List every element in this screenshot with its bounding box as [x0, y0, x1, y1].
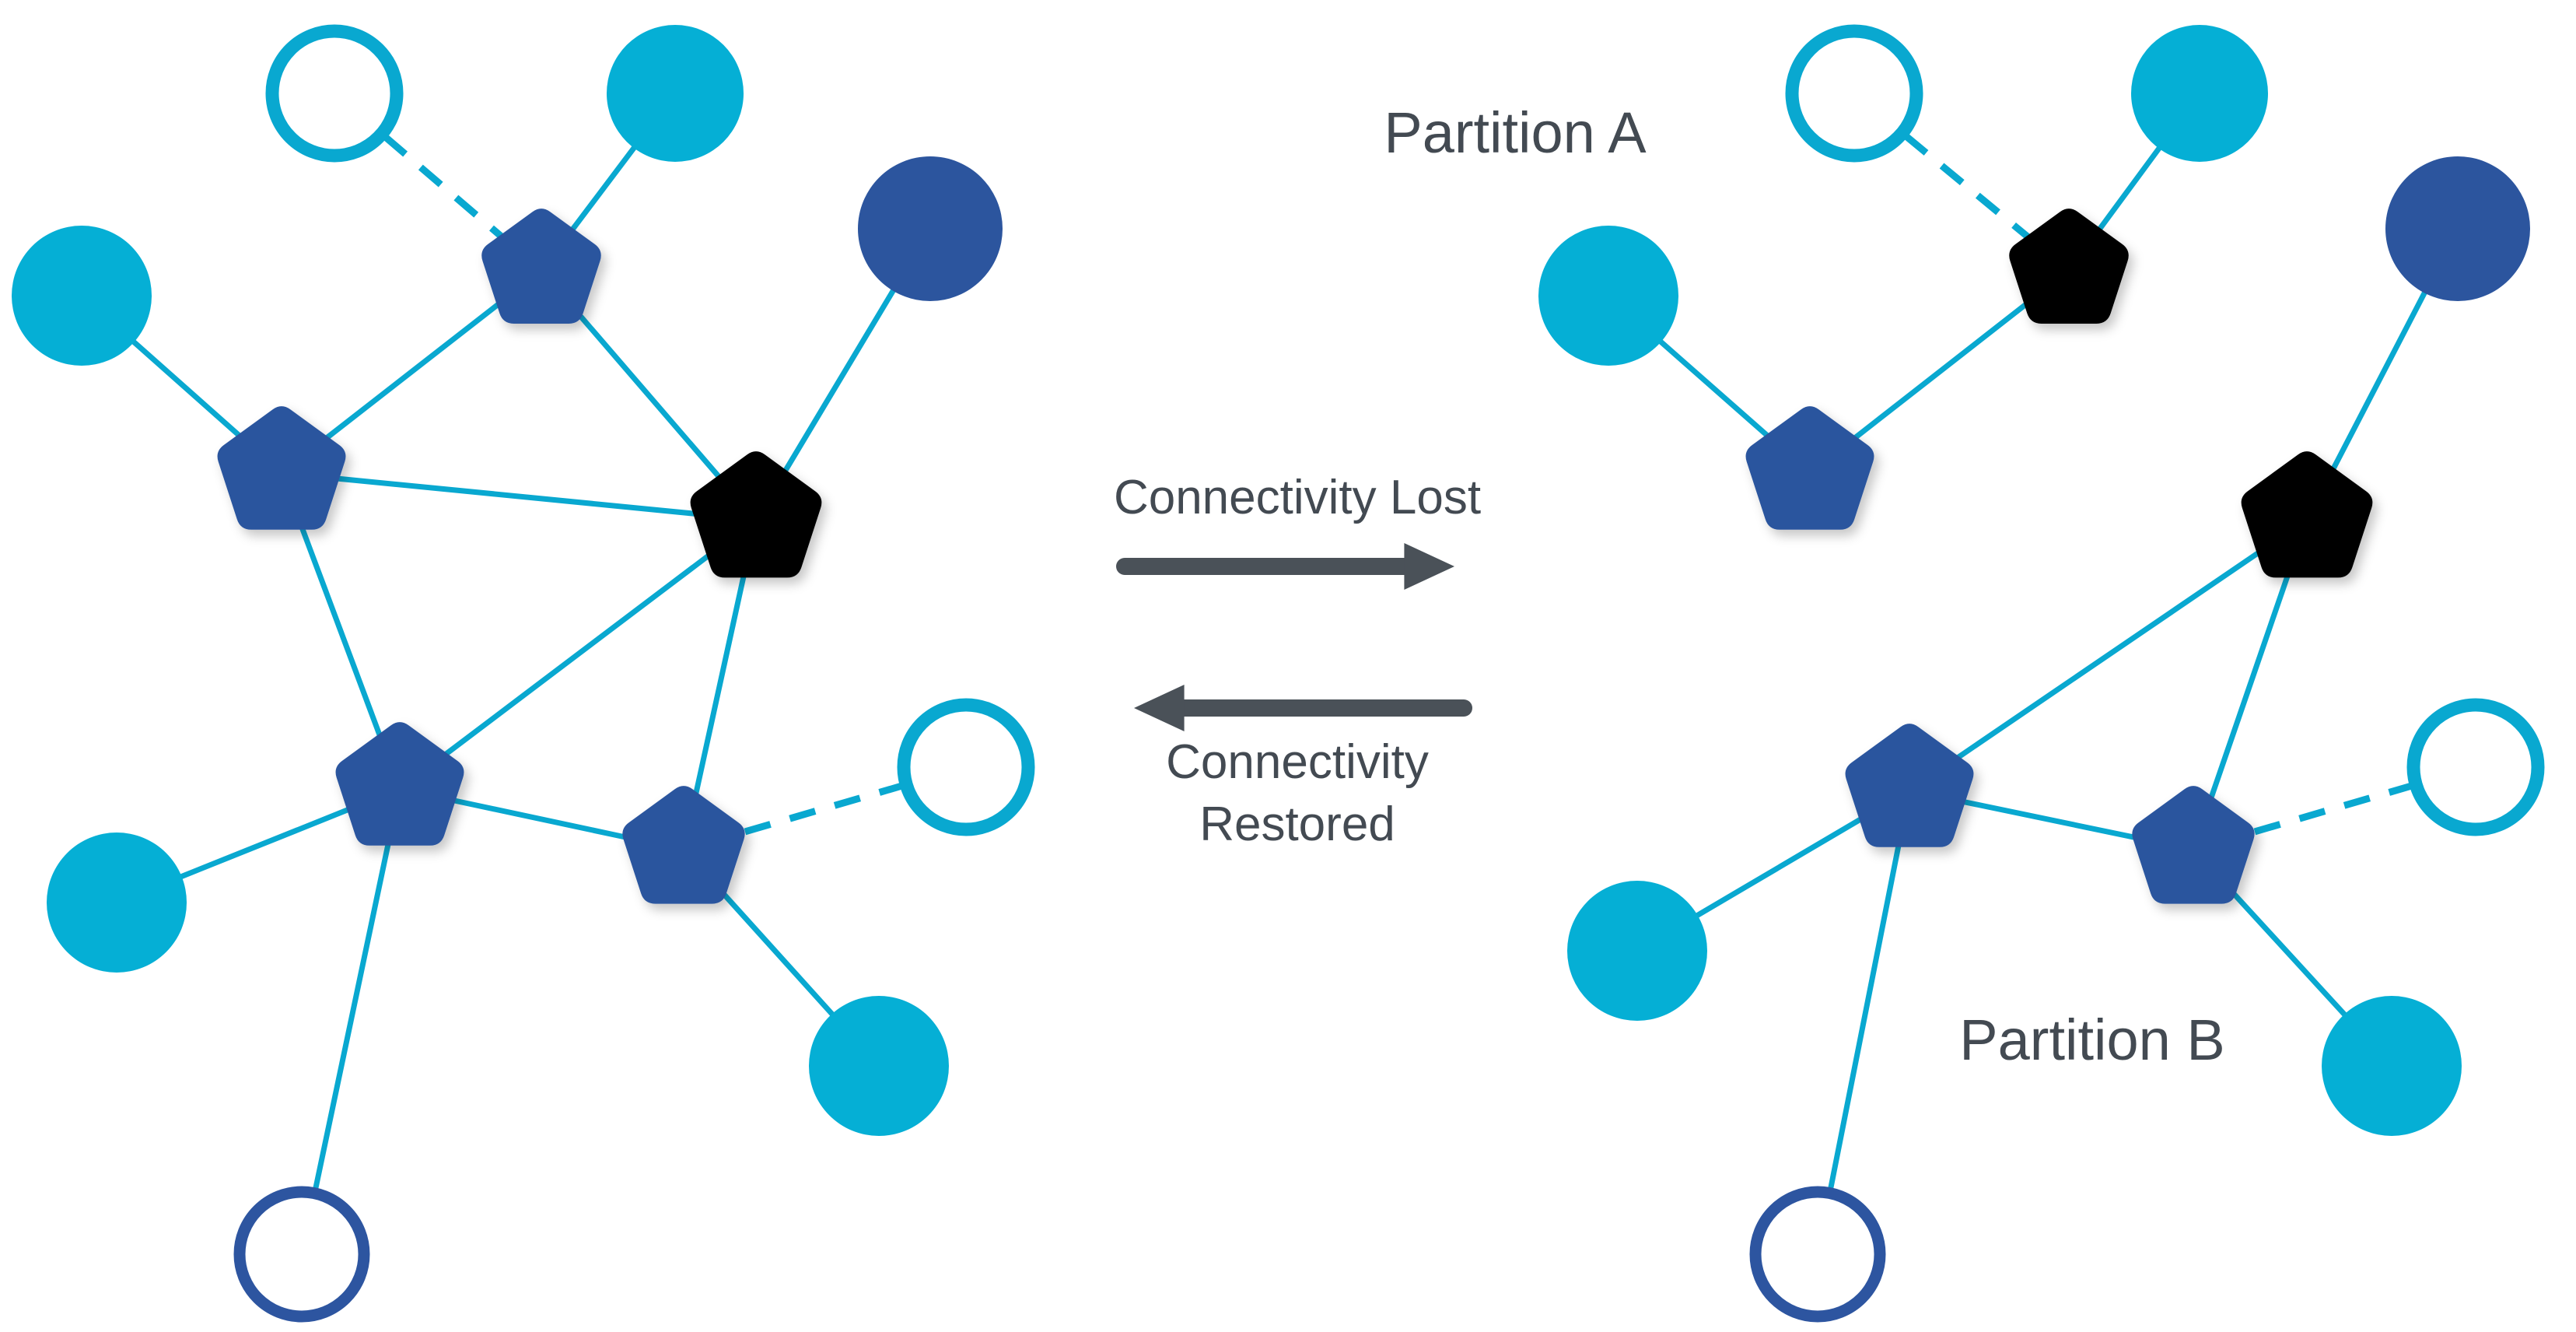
edge-solid [446, 556, 709, 754]
arrow-right-icon [1125, 543, 1454, 590]
node-circle-navy[interactable] [2385, 156, 2530, 301]
node-pentagon-blue[interactable] [481, 209, 601, 324]
edge-dashed [1906, 136, 2028, 237]
edge-solid [1660, 341, 1767, 436]
node-pentagon-blue[interactable] [218, 406, 346, 530]
edge-solid [1696, 819, 1861, 917]
arrow-left-icon [1134, 685, 1464, 731]
edge-solid [2333, 292, 2425, 469]
arrow-head [1134, 685, 1185, 731]
edge-solid [581, 317, 719, 477]
node-pentagon-black[interactable] [2009, 209, 2129, 324]
node-circle-outline-cyan[interactable] [904, 705, 1028, 829]
arrow-head [1404, 543, 1454, 590]
edge-solid [1964, 802, 2134, 838]
node-circle-outline-navy[interactable] [1755, 1192, 1880, 1316]
node-circle-cyan[interactable] [1567, 881, 1707, 1021]
edge-solid [785, 289, 894, 471]
edge-solid [454, 801, 625, 837]
node-pentagon-blue[interactable] [2132, 786, 2254, 903]
edge-solid [2099, 147, 2160, 230]
edge-dashed [2255, 786, 2412, 832]
diagram-canvas: Connectivity Lost Connectivity Restored … [0, 0, 2576, 1332]
node-pentagon-blue[interactable] [1846, 724, 1974, 847]
node-circle-navy[interactable] [858, 156, 1003, 301]
node-pentagon-blue[interactable] [622, 786, 744, 903]
edge-solid [1831, 846, 1899, 1189]
node-circle-cyan[interactable] [2322, 996, 2462, 1136]
edge-dashed [385, 137, 501, 237]
node-pentagon-blue[interactable] [336, 722, 464, 846]
nodes-layer [12, 25, 2538, 1316]
node-pentagon-black[interactable] [2242, 451, 2373, 577]
edge-solid [1855, 304, 2025, 437]
connectivity-restored-label-line1: Connectivity [1166, 735, 1429, 789]
connectivity-lost-label: Connectivity Lost [1114, 471, 1481, 524]
connectivity-lost-group: Connectivity Lost [1114, 471, 1481, 590]
edge-solid [2235, 894, 2346, 1015]
connectivity-restored-label-line2: Restored [1199, 797, 1395, 851]
edge-solid [1958, 553, 2258, 758]
node-circle-cyan[interactable] [2131, 25, 2268, 162]
edge-solid [338, 478, 695, 514]
connectivity-restored-group: Connectivity Restored [1134, 685, 1464, 851]
partition-a-label: Partition A [1384, 100, 1647, 165]
node-circle-cyan[interactable] [607, 25, 744, 162]
node-circle-outline-cyan[interactable] [272, 31, 397, 156]
edge-solid [303, 528, 380, 735]
node-circle-outline-cyan[interactable] [1792, 31, 1916, 156]
edge-solid [2211, 577, 2287, 798]
edge-solid [724, 895, 833, 1015]
node-circle-cyan[interactable] [12, 226, 152, 366]
node-circle-cyan[interactable] [809, 996, 949, 1136]
edge-solid [133, 341, 240, 435]
node-circle-outline-cyan[interactable] [2413, 705, 2538, 829]
node-circle-outline-navy[interactable] [240, 1192, 364, 1316]
edge-solid [180, 809, 348, 877]
edge-solid [327, 304, 498, 438]
partition-b-label: Partition B [1959, 1008, 2224, 1072]
node-circle-cyan[interactable] [1538, 226, 1678, 366]
edge-solid [316, 844, 388, 1189]
edge-solid [572, 147, 635, 230]
node-circle-cyan[interactable] [47, 832, 187, 973]
node-pentagon-blue[interactable] [1746, 406, 1874, 530]
edge-solid [696, 576, 744, 793]
network-partition-svg: Connectivity Lost Connectivity Restored … [0, 0, 2576, 1332]
edge-dashed [745, 786, 902, 832]
